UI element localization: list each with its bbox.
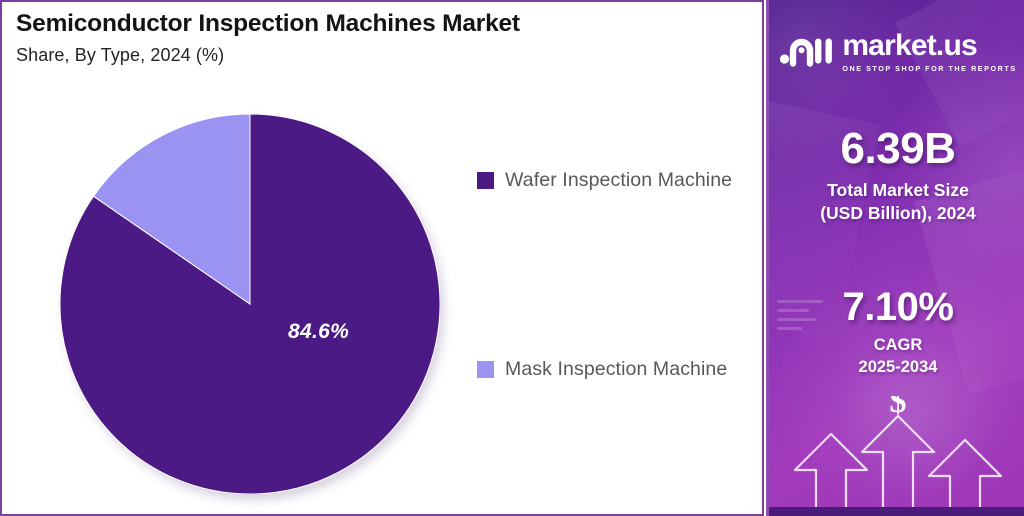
legend-swatch-icon bbox=[477, 361, 494, 378]
stats-panel: market.us ONE STOP SHOP FOR THE REPORTS … bbox=[766, 0, 1024, 516]
stat-caption: CAGR 2025-2034 bbox=[769, 335, 1024, 379]
infographic-root: Semiconductor Inspection Machines Market… bbox=[0, 0, 1024, 516]
page-title: Semiconductor Inspection Machines Market bbox=[16, 10, 520, 38]
growth-arrows-graphic: $ bbox=[769, 396, 1024, 516]
dollar-symbol-icon: $ bbox=[890, 396, 907, 420]
chart-panel: Semiconductor Inspection Machines Market… bbox=[0, 0, 764, 516]
logo-tagline: ONE STOP SHOP FOR THE REPORTS bbox=[842, 64, 1016, 73]
stat-caption-line-2: (USD Billion), 2024 bbox=[769, 202, 1024, 225]
logo-text-block: market.us ONE STOP SHOP FOR THE REPORTS bbox=[842, 31, 1016, 73]
stat-caption-line-1: CAGR bbox=[769, 335, 1024, 357]
stat-value: 6.39B bbox=[769, 126, 1024, 172]
legend-item-wafer-inspection-machine[interactable]: Wafer Inspection Machine bbox=[477, 169, 732, 192]
legend-label: Wafer Inspection Machine bbox=[505, 169, 732, 192]
stat-caption-line-1: Total Market Size bbox=[769, 179, 1024, 202]
stat-total-market-size: 6.39B Total Market Size (USD Billion), 2… bbox=[769, 126, 1024, 225]
chart-subtitle: Share, By Type, 2024 (%) bbox=[16, 45, 224, 66]
stat-caption: Total Market Size (USD Billion), 2024 bbox=[769, 179, 1024, 225]
legend-label: Mask Inspection Machine bbox=[505, 358, 727, 381]
pie-svg bbox=[60, 114, 440, 494]
stat-cagr: 7.10% CAGR 2025-2034 bbox=[769, 286, 1024, 379]
stat-caption-line-2: 2025-2034 bbox=[769, 357, 1024, 379]
pie-slice-label-wafer: 84.6% bbox=[288, 320, 349, 344]
up-arrow-right-icon bbox=[929, 440, 1001, 516]
brand-logo[interactable]: market.us ONE STOP SHOP FOR THE REPORTS bbox=[769, 31, 1024, 73]
logo-wordmark: market.us bbox=[842, 29, 977, 62]
up-arrow-center-icon bbox=[862, 416, 934, 516]
legend-item-mask-inspection-machine[interactable]: Mask Inspection Machine bbox=[477, 358, 727, 381]
stat-value: 7.10% bbox=[769, 286, 1024, 328]
up-arrow-left-icon bbox=[795, 434, 867, 516]
market-us-logo-icon bbox=[779, 32, 835, 73]
pie-chart: 84.6% bbox=[60, 114, 440, 494]
legend-swatch-icon bbox=[477, 172, 494, 189]
arrow-baseline bbox=[769, 507, 1024, 516]
